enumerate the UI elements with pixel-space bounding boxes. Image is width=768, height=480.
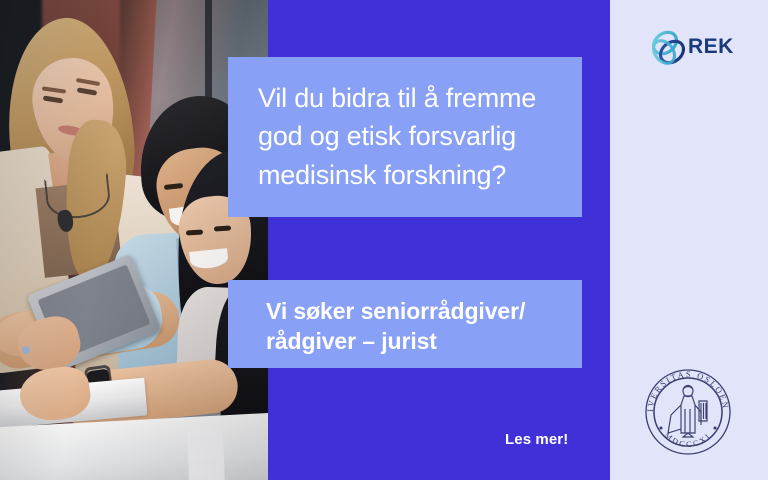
headline-line-2: god og etisk forsvarlig bbox=[258, 117, 566, 155]
rek-logo[interactable]: REK bbox=[650, 26, 738, 70]
subhead-box: Vi søker seniorrådgiver/ rådgiver – juri… bbox=[228, 280, 582, 368]
headline-text: Vil du bidra til å fremme god og etisk f… bbox=[258, 79, 566, 194]
subhead-line-1: Vi søker seniorrådgiver/ bbox=[266, 296, 572, 326]
headline-box: Vil du bidra til å fremme god og etisk f… bbox=[228, 57, 582, 217]
subhead-line-2: rådgiver – jurist bbox=[266, 326, 572, 356]
uio-seal: UNIVERSITAS OSLOENSIS MDCCCXI bbox=[641, 365, 735, 459]
read-more-link[interactable]: Les mer! bbox=[505, 431, 568, 448]
rek-mark-icon bbox=[650, 26, 690, 70]
subhead-text: Vi søker seniorrådgiver/ rådgiver – juri… bbox=[266, 296, 572, 357]
headline-line-1: Vil du bidra til å fremme bbox=[258, 79, 566, 117]
uio-seal-top-text: UNIVERSITAS OSLOENSIS bbox=[641, 365, 730, 412]
job-advert-banner: REK UNIVERSITAS OSLOENSIS MDCCCXI bbox=[0, 0, 768, 480]
rek-wordmark: REK bbox=[688, 35, 734, 59]
uio-seal-icon: UNIVERSITAS OSLOENSIS MDCCCXI bbox=[641, 365, 735, 459]
svg-text:UNIVERSITAS OSLOENSIS: UNIVERSITAS OSLOENSIS bbox=[641, 365, 730, 412]
headline-line-3: medisinsk forskning? bbox=[258, 156, 566, 194]
